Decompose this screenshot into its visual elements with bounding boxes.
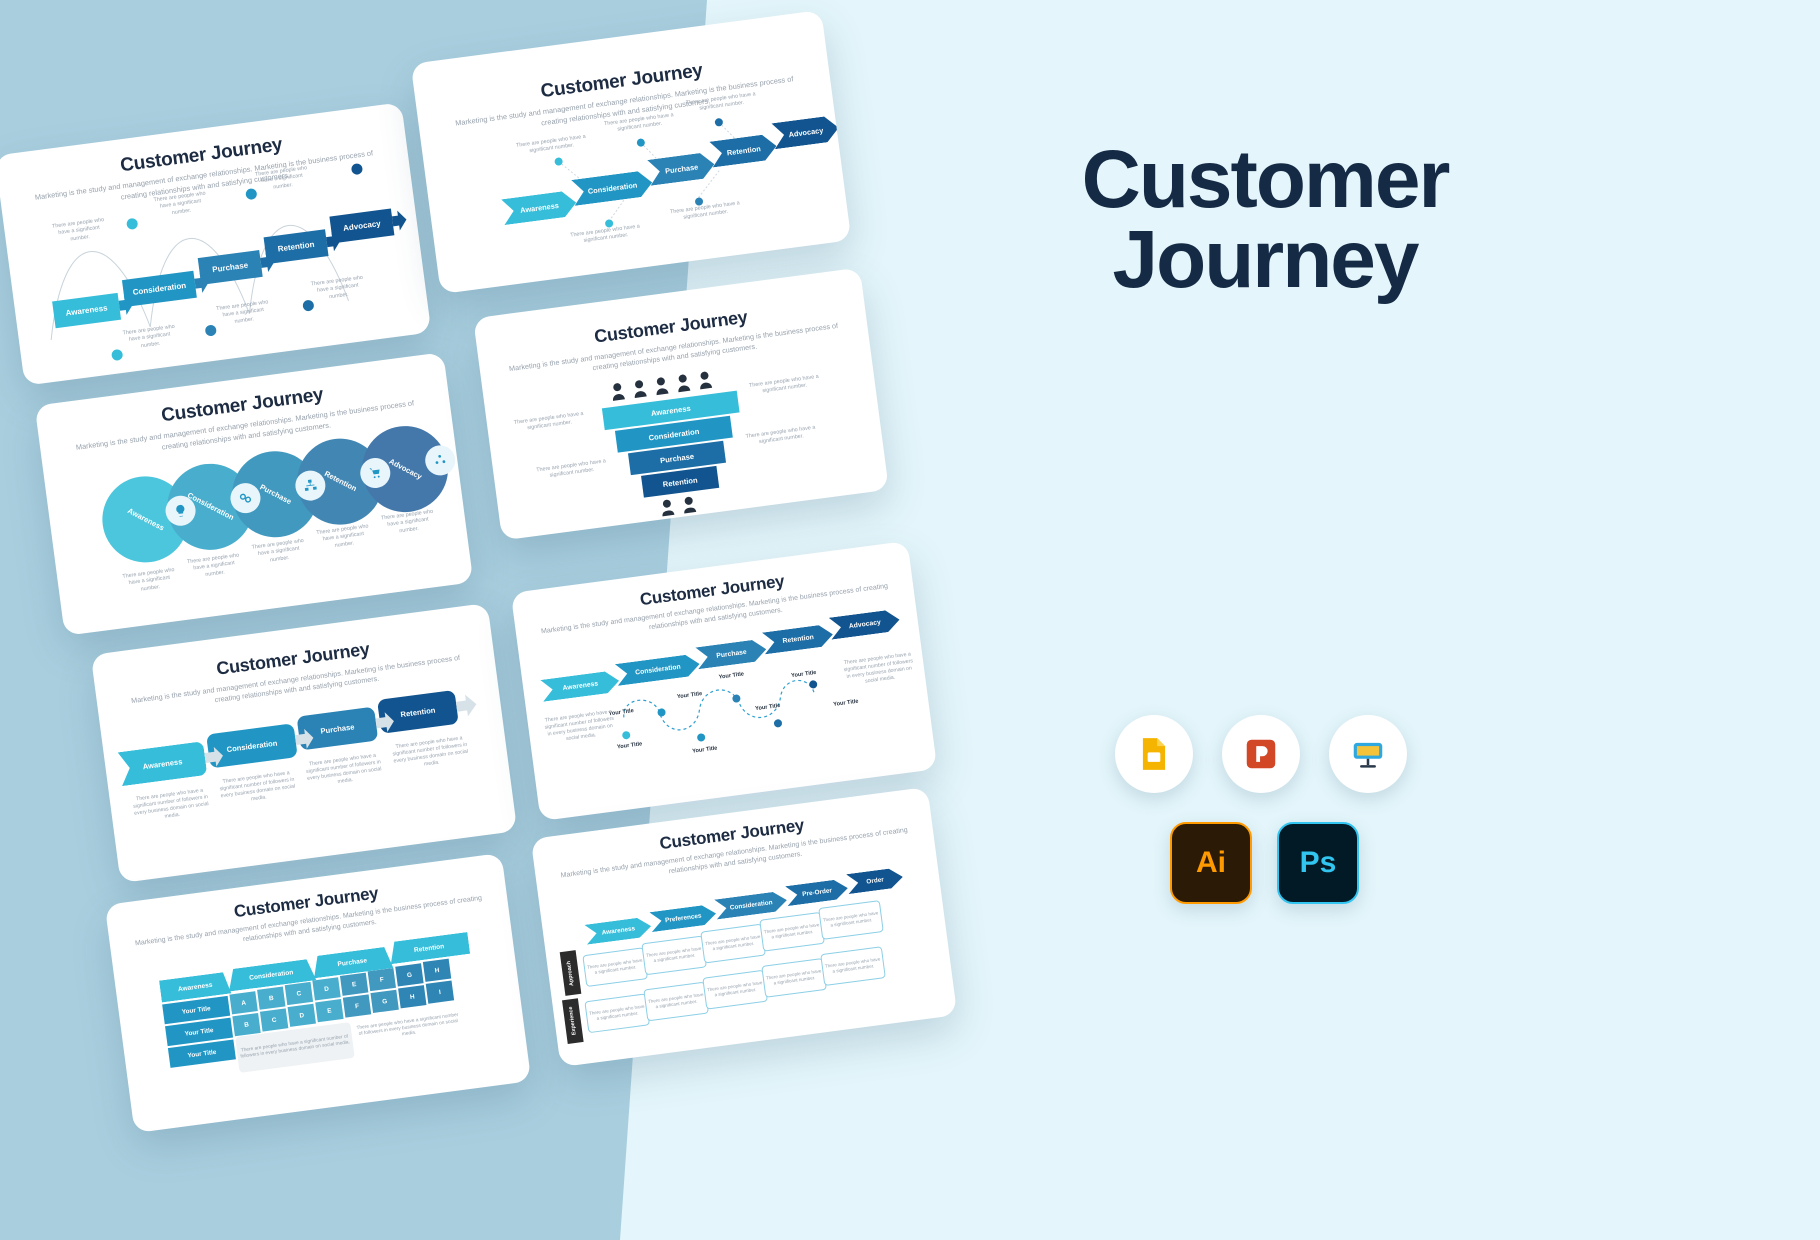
table-cell: B: [232, 1013, 260, 1036]
note-text: There are people who have a significant …: [533, 458, 610, 482]
step-chevron[interactable]: Awareness: [540, 670, 620, 702]
row-tag-approach: Approach: [560, 950, 582, 996]
step-chevron[interactable]: Advocacy: [829, 609, 901, 640]
stage-label: Purchase: [258, 482, 292, 506]
row-tag-experience: Experience: [562, 998, 584, 1044]
step-chevron[interactable]: Awareness: [584, 916, 652, 944]
matrix-cell: There are people who have a significant …: [700, 924, 766, 964]
people-row-bottom-icon: [658, 493, 710, 517]
step-chevron[interactable]: Consideration: [714, 890, 788, 919]
matrix-cell: There are people who have a significant …: [759, 912, 825, 952]
note-text: There are people who have a significant …: [746, 373, 823, 397]
table-cell: G: [370, 990, 398, 1013]
table-cell: H: [423, 959, 451, 982]
matrix-cell: There are people who have a significant …: [761, 958, 827, 998]
table-cell: G: [395, 963, 423, 986]
table-cell: F: [343, 994, 371, 1017]
table-cell: D: [288, 1004, 316, 1027]
note-text: There are people who have a significant …: [311, 523, 375, 553]
illustrator-icon[interactable]: Ai: [1170, 822, 1252, 904]
matrix-cell: There are people who have a significant …: [641, 935, 707, 975]
matrix-cell: There are people who have a significant …: [582, 947, 648, 987]
photoshop-icon[interactable]: Ps: [1277, 822, 1359, 904]
google-slides-icon[interactable]: [1115, 715, 1193, 793]
keynote-icon[interactable]: [1329, 715, 1407, 793]
powerpoint-icon[interactable]: [1222, 715, 1300, 793]
table-cell: F: [368, 968, 396, 991]
note-text: There are people who have a significant …: [842, 651, 915, 688]
table-cell: H: [398, 985, 426, 1008]
table-cell: C: [285, 982, 313, 1005]
step-chevron[interactable]: Purchase: [695, 638, 767, 669]
note-text: There are people who have a significant …: [247, 537, 311, 567]
table-cell: A: [229, 991, 257, 1014]
table-cell: B: [257, 987, 285, 1010]
note-text: There are people who have a significant …: [117, 566, 181, 596]
matrix-cell: There are people who have a significant …: [818, 900, 884, 940]
stage-label: Advocacy: [387, 457, 423, 482]
matrix-cell: There are people who have a significant …: [584, 993, 650, 1033]
step-chevron[interactable]: Order: [846, 867, 904, 894]
dotted-journey-path: [613, 665, 862, 778]
step-chevron[interactable]: Retention: [762, 623, 834, 654]
table-cell: C: [260, 1008, 288, 1031]
table-cell: I: [426, 980, 454, 1003]
step-chevron[interactable]: Preferences: [649, 904, 717, 932]
stage-label: Awareness: [126, 506, 166, 532]
table-cell: D: [312, 977, 340, 1000]
table-cell: E: [340, 973, 368, 996]
table-header-cell[interactable]: Retention: [388, 932, 470, 964]
step-chevron[interactable]: Consideration: [615, 653, 701, 686]
note-text: There are people who have a significant …: [182, 552, 246, 582]
matrix-cell: There are people who have a significant …: [643, 982, 709, 1022]
headline-line-2: Journey: [1055, 220, 1475, 300]
headline-line-1: Customer: [1055, 140, 1475, 220]
note-text: There are people who have a significant …: [376, 508, 440, 538]
step-chevron[interactable]: Pre-Order: [785, 878, 849, 906]
page-headline: Customer Journey: [1055, 140, 1475, 301]
matrix-cell: There are people who have a significant …: [702, 970, 768, 1010]
note-text: There are people who have a significant …: [543, 709, 616, 746]
note-text: There are people who have a significant …: [511, 410, 588, 434]
stage-label: Retention: [323, 470, 358, 494]
table-cell: E: [315, 999, 343, 1022]
note-text: There are people who have a significant …: [742, 424, 819, 448]
matrix-cell: There are people who have a significant …: [820, 946, 886, 986]
